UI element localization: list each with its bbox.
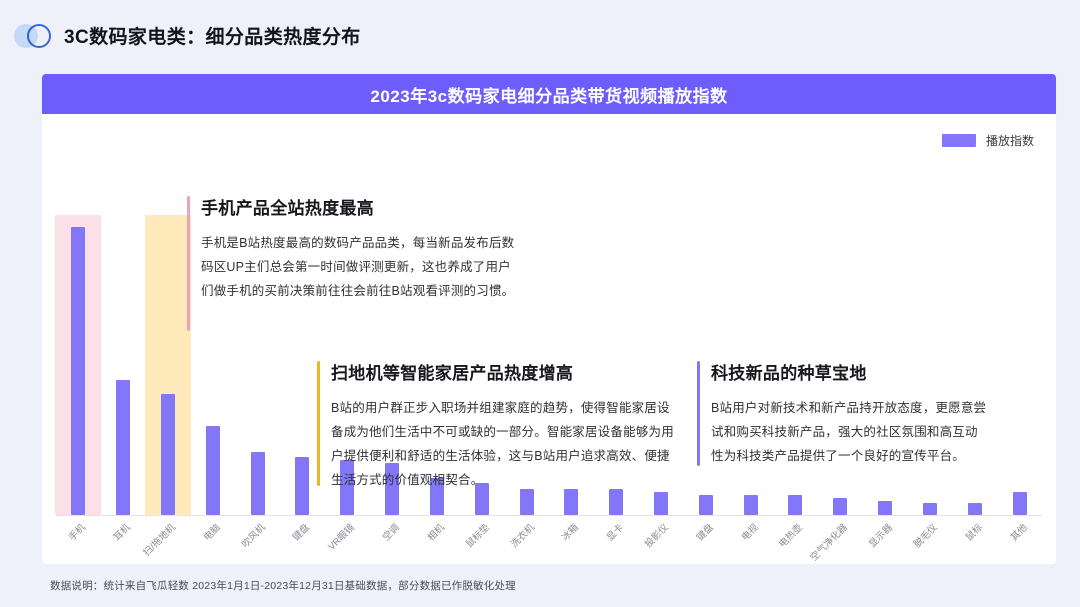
x-axis-tick-label: 空调 [379, 520, 402, 543]
bar[interactable] [520, 489, 534, 515]
bar[interactable] [206, 426, 220, 515]
bar-slot[interactable]: 耳机 [101, 136, 146, 515]
x-axis-tick-label: 键盘 [289, 520, 312, 543]
callout-newtech: 科技新品的种草宝地 B站用户对新技术和新产品持开放态度，更愿意尝试和购买科技新产… [697, 359, 987, 468]
bar[interactable] [295, 457, 309, 515]
callout-accent-bar [697, 361, 700, 466]
x-axis-tick-label: 手机 [65, 520, 88, 543]
bar-slot[interactable]: 手机 [56, 136, 101, 515]
circle-outline-shape [27, 24, 51, 48]
page-title: 3C数码家电类：细分品类热度分布 [64, 22, 361, 49]
bar[interactable] [71, 227, 85, 515]
callout-body: B站的用户群正步入职场并组建家庭的趋势，使得智能家居设备成为他们生活中不可或缺的… [331, 396, 677, 492]
bar-slot[interactable]: 其他 [997, 136, 1042, 515]
callout-accent-bar [317, 361, 320, 486]
x-axis-tick-label: 鼠标垫 [462, 520, 492, 550]
bar[interactable] [161, 394, 175, 515]
bar[interactable] [923, 503, 937, 515]
x-axis-tick-label: 冰箱 [558, 520, 581, 543]
x-axis-tick-label: 脱毛仪 [910, 520, 940, 550]
bar[interactable] [878, 501, 892, 515]
bar[interactable] [968, 503, 982, 515]
callout-accent-bar [187, 196, 190, 331]
footnote: 数据说明：统计来自飞瓜轻数 2023年1月1日-2023年12月31日基础数据，… [50, 578, 516, 593]
x-axis-tick-label: 电脑 [199, 520, 222, 543]
page-header: 3C数码家电类：细分品类热度分布 [14, 22, 361, 49]
x-axis-tick-label: 其他 [1006, 520, 1029, 543]
bar[interactable] [744, 495, 758, 515]
x-axis-tick-label: 显示器 [865, 520, 895, 550]
x-axis-tick-label: 耳机 [110, 520, 133, 543]
callout-smarthome: 扫地机等智能家居产品热度增高 B站的用户群正步入职场并组建家庭的趋势，使得智能家… [317, 359, 677, 492]
bar[interactable] [833, 498, 847, 515]
callout-title: 扫地机等智能家居产品热度增高 [331, 359, 677, 384]
x-axis-tick-label: 吹风机 [238, 520, 268, 550]
x-axis-tick-label: 投影仪 [641, 520, 671, 550]
x-axis-tick-label: 相机 [423, 520, 446, 543]
bar[interactable] [564, 489, 578, 515]
callout-phone: 手机产品全站热度最高 手机是B站热度最高的数码产品品类，每当新品发布后数码区UP… [187, 194, 517, 303]
bar[interactable] [251, 452, 265, 515]
callout-body: B站用户对新技术和新产品持开放态度，更愿意尝试和购买科技新产品，强大的社区氛围和… [711, 396, 987, 468]
callout-title: 科技新品的种草宝地 [711, 359, 987, 384]
bar-slot[interactable]: 扫/拖地机 [146, 136, 191, 515]
x-axis-tick-label: 显卡 [603, 520, 626, 543]
callout-body: 手机是B站热度最高的数码产品品类，每当新品发布后数码区UP主们总会第一时间做评测… [201, 231, 517, 303]
bar[interactable] [1013, 492, 1027, 515]
x-axis-tick-label: 空气净化器 [807, 520, 850, 563]
bar[interactable] [116, 380, 130, 515]
bar[interactable] [788, 495, 802, 515]
bar[interactable] [699, 495, 713, 515]
chart-title-banner: 2023年3c数码家电细分品类带货视频播放指数 [42, 74, 1056, 114]
x-axis-tick-label: 电热壶 [775, 520, 805, 550]
x-axis-tick-label: 洗衣机 [506, 520, 536, 550]
slide-root: 3C数码家电类：细分品类热度分布 2023年3c数码家电细分品类带货视频播放指数… [0, 0, 1080, 607]
x-axis-tick-label: 电视 [737, 520, 760, 543]
bar-slot[interactable]: 吹风机 [235, 136, 280, 515]
x-axis-tick-label: 键盘 [692, 520, 715, 543]
chart-title: 2023年3c数码家电细分品类带货视频播放指数 [370, 82, 727, 107]
overlapping-circles-icon [14, 23, 54, 49]
x-axis-tick-label: 鼠标 [961, 520, 984, 543]
bar[interactable] [654, 492, 668, 515]
x-axis-tick-label: 扫/拖地机 [139, 520, 178, 559]
bar-slot[interactable]: 电脑 [190, 136, 235, 515]
x-axis-tick-label: VR眼镜 [325, 520, 358, 553]
bar[interactable] [609, 489, 623, 515]
callout-title: 手机产品全站热度最高 [201, 194, 517, 219]
chart-card: 2023年3c数码家电细分品类带货视频播放指数 播放指数 手机耳机扫/拖地机电脑… [42, 74, 1056, 564]
